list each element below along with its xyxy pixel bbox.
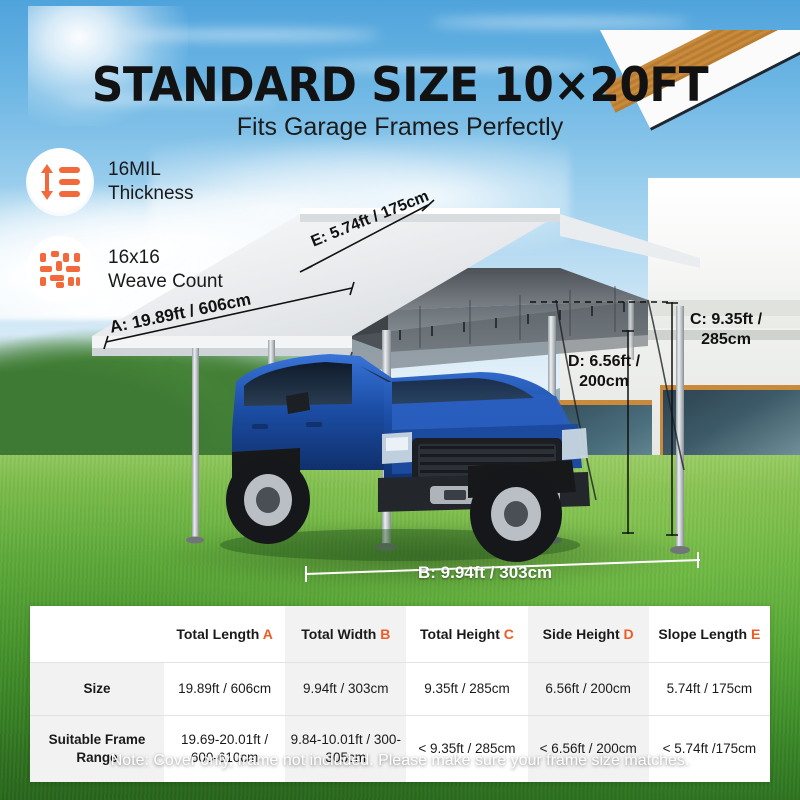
feature-weave-text: 16x16 Weave Count — [108, 246, 223, 294]
page-subtitle: Fits Garage Frames Perfectly — [0, 113, 800, 142]
cell-size-a: 19.89ft / 606cm — [164, 663, 285, 716]
feature-icon-wrap — [26, 236, 94, 304]
row-label-frame-range: Suitable Frame Range — [30, 716, 164, 783]
page-title: STANDARD SIZE 10×20FT — [28, 58, 772, 113]
cell-range-b: 9.84-10.01ft / 300-305cm — [285, 716, 406, 783]
header-total-height-letter: C — [504, 626, 514, 642]
cell-range-a: 19.69-20.01ft / 600-610cm — [164, 716, 285, 783]
header-slope-length-letter: E — [751, 626, 760, 642]
dimension-label-d: D: 6.56ft / 200cm — [568, 352, 640, 392]
feature-thickness-line2: Thickness — [108, 182, 194, 206]
feature-thickness-text: 16MIL Thickness — [108, 158, 194, 206]
header-total-width-text: Total Width — [301, 626, 376, 642]
feature-weave: 16x16 Weave Count — [26, 236, 223, 304]
spec-table-head: Total Length A Total Width B Total Heigh… — [30, 606, 770, 663]
dimension-label-b: B: 9.94ft / 303cm — [418, 563, 552, 583]
header-total-length-text: Total Length — [176, 626, 259, 642]
thickness-arrow-icon — [38, 162, 82, 202]
cell-size-b: 9.94ft / 303cm — [285, 663, 406, 716]
feature-weave-line2: Weave Count — [108, 270, 223, 294]
dimension-label-c: C: 9.35ft / 285cm — [690, 310, 762, 350]
cell-size-e: 5.74ft / 175cm — [649, 663, 770, 716]
header-total-length-letter: A — [263, 626, 273, 642]
product-infographic: STANDARD SIZE 10×20FT Fits Garage Frames… — [0, 0, 800, 800]
footer-note: Note: Cover only, frame not included. Pl… — [0, 752, 800, 770]
feature-icon-wrap — [26, 148, 94, 216]
cell-range-e: < 5.74ft /175cm — [649, 716, 770, 783]
header-side-height-letter: D — [624, 626, 634, 642]
header-side-height: Side Height D — [528, 606, 649, 663]
header-total-width-letter: B — [380, 626, 390, 642]
cirrus-cloud — [430, 18, 690, 27]
feature-weave-line1: 16x16 — [108, 246, 223, 270]
header-total-height: Total Height C — [406, 606, 527, 663]
cell-range-d: < 6.56ft / 200cm — [528, 716, 649, 783]
table-row: Size 19.89ft / 606cm 9.94ft / 303cm 9.35… — [30, 663, 770, 716]
dimension-label-d-line1: D: 6.56ft / — [568, 352, 640, 372]
cirrus-cloud — [120, 30, 380, 40]
header-slope-length-text: Slope Length — [658, 626, 747, 642]
header-total-width: Total Width B — [285, 606, 406, 663]
header-side-height-text: Side Height — [543, 626, 620, 642]
header-slope-length: Slope Length E — [649, 606, 770, 663]
dimension-label-d-line2: 200cm — [568, 372, 640, 392]
dimension-label-c-line1: C: 9.35ft / — [690, 310, 762, 330]
cell-size-c: 9.35ft / 285cm — [406, 663, 527, 716]
weave-pattern-icon — [38, 249, 82, 291]
dimension-label-c-line2: 285cm — [690, 330, 762, 350]
header-corner — [30, 606, 164, 663]
header-total-height-text: Total Height — [420, 626, 500, 642]
feature-thickness-line1: 16MIL — [108, 158, 194, 182]
row-label-size: Size — [30, 663, 164, 716]
cell-range-c: < 9.35ft / 285cm — [406, 716, 527, 783]
table-row: Suitable Frame Range 19.69-20.01ft / 600… — [30, 716, 770, 783]
cell-size-d: 6.56ft / 200cm — [528, 663, 649, 716]
feature-thickness: 16MIL Thickness — [26, 148, 194, 216]
table-header-row: Total Length A Total Width B Total Heigh… — [30, 606, 770, 663]
header-total-length: Total Length A — [164, 606, 285, 663]
